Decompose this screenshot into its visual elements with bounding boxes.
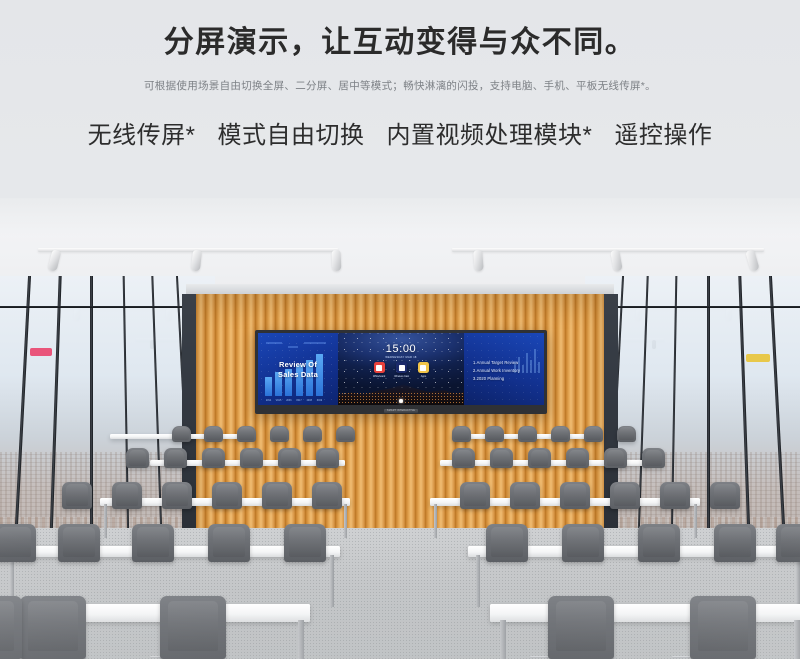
left-panel-title-line2: Sales Data <box>258 370 338 380</box>
app-label-0: Whiteboard <box>373 375 385 378</box>
bar-label-1: 2015 <box>275 399 282 402</box>
left-panel-title-line1: Review Of <box>258 360 338 370</box>
screen-panel-left[interactable]: 2014 2015 2016 2017 2018 2019 Review Of … <box>258 333 338 405</box>
chair-r4-5 <box>278 448 301 468</box>
page-title: 分屏演示，让互动变得与众不同。 <box>0 23 800 64</box>
chair-r2-8 <box>638 524 680 562</box>
screen-panel-center[interactable]: 15:00 WEDNESDAY MAR 18 Whiteboard <box>338 333 464 405</box>
bar-label-2: 2016 <box>285 399 292 402</box>
desk-leg-1d <box>794 620 800 659</box>
chair-r2-7 <box>562 524 604 562</box>
chair-r4-7 <box>452 448 475 468</box>
chair-r5-3 <box>237 426 256 442</box>
chair-r3-2 <box>112 482 142 509</box>
desk-leg-3c <box>434 504 437 538</box>
desk-leg-2d <box>796 555 800 607</box>
app-label-1: Wireless Cast <box>394 375 409 378</box>
spotlight-4 <box>473 250 483 272</box>
chair-r4-1 <box>126 448 149 468</box>
chair-r5-2 <box>204 426 223 442</box>
chair-r4-3 <box>202 448 225 468</box>
chair-r1-3 <box>0 596 22 659</box>
chair-r5-1 <box>172 426 191 442</box>
feature-item-2: 内置视频处理模块* <box>387 115 593 150</box>
feature-item-1: 模式自由切换 <box>218 115 365 150</box>
decor-line-l2 <box>288 346 298 348</box>
conference-room-photo: 2014 2015 2016 2017 2018 2019 Review Of … <box>0 198 800 659</box>
chair-r2-3 <box>132 524 174 562</box>
page-subtitle: 可根据使用场景自由切换全屏、二分屏、居中等模式；畅快淋漓的闪投，支持电脑、手机、… <box>0 78 800 93</box>
window-sign-left <box>30 348 52 356</box>
chair-r3-3 <box>162 482 192 509</box>
chair-r3-5 <box>262 482 292 509</box>
chair-r4-10 <box>566 448 589 468</box>
bar-label-5: 2019 <box>316 399 323 402</box>
desk-leg-2b <box>330 555 334 607</box>
light-track-2 <box>452 248 764 252</box>
chair-r5-6 <box>336 426 355 442</box>
window-sign-right <box>746 354 770 362</box>
chair-r5-9 <box>518 426 537 442</box>
chair-r2-4 <box>208 524 250 562</box>
chair-r3-11 <box>660 482 690 509</box>
chair-r3-9 <box>560 482 590 509</box>
chair-r5-7 <box>452 426 471 442</box>
split-screen-handle[interactable] <box>399 399 403 403</box>
desk-leg-1b <box>298 620 304 659</box>
chair-r2-10 <box>776 524 800 562</box>
bar-label-3: 2017 <box>296 399 303 402</box>
left-panel-title: Review Of Sales Data <box>258 360 338 380</box>
chair-r1-2 <box>160 596 226 659</box>
feature-list: 无线传屏* 模式自由切换 内置视频处理模块* 遥控操作 <box>0 115 800 150</box>
light-track-1 <box>38 248 338 252</box>
chair-r3-12 <box>710 482 740 509</box>
chair-r4-11 <box>604 448 627 468</box>
bar-label-4: 2018 <box>306 399 313 402</box>
agenda-item-1: 2.Annual Work Inventory <box>473 367 539 375</box>
app-whiteboard[interactable]: Whiteboard <box>373 362 385 378</box>
desk-leg-2c <box>476 555 480 607</box>
chair-r5-11 <box>584 426 603 442</box>
chair-r5-8 <box>485 426 504 442</box>
chair-r4-4 <box>240 448 263 468</box>
spotlight-3 <box>332 250 342 271</box>
whiteboard-icon[interactable] <box>374 362 385 373</box>
clock-date: WEDNESDAY MAR 18 <box>338 356 464 359</box>
chair-r1-5 <box>690 596 756 659</box>
chair-r4-8 <box>490 448 513 468</box>
chair-r5-4 <box>270 426 289 442</box>
chair-r2-2 <box>58 524 100 562</box>
chair-r4-2 <box>164 448 187 468</box>
interactive-display[interactable]: 2014 2015 2016 2017 2018 2019 Review Of … <box>255 330 547 414</box>
sales-bar-labels: 2014 2015 2016 2017 2018 2019 <box>265 399 323 402</box>
app-wireless-cast[interactable]: Wireless Cast <box>394 362 409 378</box>
chair-r5-12 <box>617 426 636 442</box>
agenda-item-2: 3.2020 Planning <box>473 375 539 383</box>
chair-r4-9 <box>528 448 551 468</box>
app-apps[interactable]: Apps <box>418 362 429 378</box>
chair-r3-10 <box>610 482 640 509</box>
display-brand-logo: SMART INTERACTIVE <box>384 409 418 413</box>
desk-leg-3a <box>104 504 107 538</box>
chair-r4-12 <box>642 448 665 468</box>
screen-panel-right[interactable]: 1.Annual Target Review 2.Annual Work Inv… <box>464 333 544 405</box>
chair-r4-6 <box>316 448 339 468</box>
agenda-list: 1.Annual Target Review 2.Annual Work Inv… <box>473 359 539 383</box>
chair-r2-9 <box>714 524 756 562</box>
chair-r1-1 <box>20 596 86 659</box>
chair-r3-7 <box>460 482 490 509</box>
chair-r2-5 <box>284 524 326 562</box>
page-root: 分屏演示，让互动变得与众不同。 可根据使用场景自由切换全屏、二分屏、居中等模式；… <box>0 0 800 659</box>
agenda-item-0: 1.Annual Target Review <box>473 359 539 367</box>
chair-r2-6 <box>486 524 528 562</box>
app-launcher[interactable]: Whiteboard Wireless Cast A <box>338 362 464 378</box>
header-section: 分屏演示，让互动变得与众不同。 可根据使用场景自由切换全屏、二分屏、居中等模式；… <box>0 0 800 200</box>
wireless-cast-icon[interactable] <box>396 362 407 373</box>
decor-line-l3 <box>304 342 326 344</box>
chair-r5-10 <box>551 426 570 442</box>
chair-r1-4 <box>548 596 614 659</box>
desk-leg-3b <box>344 504 347 538</box>
chair-r3-1 <box>62 482 92 509</box>
decor-line-l1 <box>266 342 282 344</box>
display-screen[interactable]: 2014 2015 2016 2017 2018 2019 Review Of … <box>258 333 544 405</box>
bar-label-0: 2014 <box>265 399 272 402</box>
chair-r3-6 <box>312 482 342 509</box>
desk-leg-3d <box>694 504 697 538</box>
feature-item-0: 无线传屏* <box>88 115 196 150</box>
chair-r3-8 <box>510 482 540 509</box>
desk-leg-1c <box>500 620 506 659</box>
apps-icon[interactable] <box>418 362 429 373</box>
chair-r2-1 <box>0 524 36 562</box>
chair-r3-4 <box>212 482 242 509</box>
app-label-2: Apps <box>418 375 429 378</box>
chair-r5-5 <box>303 426 322 442</box>
clock-time: 15:00 <box>338 343 464 355</box>
feature-item-3: 遥控操作 <box>614 115 712 150</box>
